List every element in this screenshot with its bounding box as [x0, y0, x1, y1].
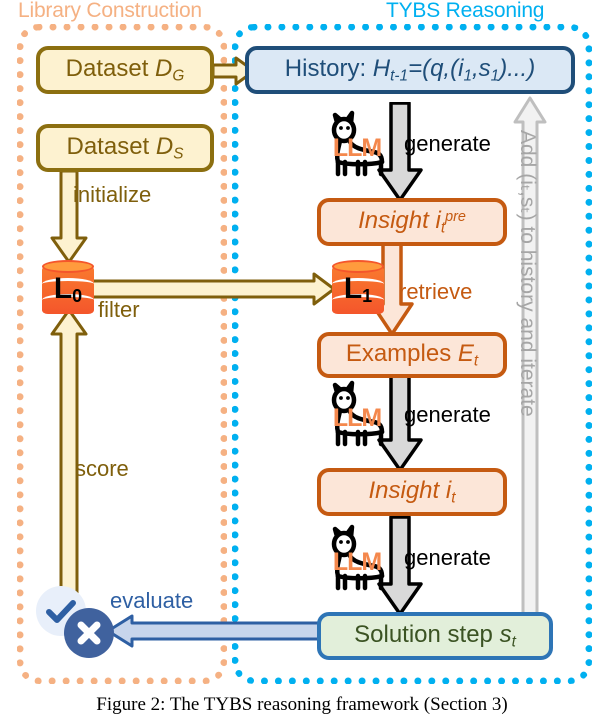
cross-mark-icon: [64, 608, 114, 658]
edge-label-score: score: [75, 456, 129, 482]
llm-llama-icon-3: LLM: [318, 524, 396, 594]
node-history-expr: =(q,(i: [408, 55, 463, 82]
node-insight: Insight it: [317, 468, 507, 516]
node-history-sub3: 1: [491, 67, 500, 84]
node-solution-sub: t: [512, 633, 516, 650]
node-solution-step: Solution step st: [317, 612, 553, 660]
node-dataset-dg-var: D: [155, 55, 172, 82]
library-l0-database-icon: L0: [40, 258, 96, 320]
llm-label-2: LLM: [318, 404, 396, 433]
node-dataset-ds: Dataset DS: [36, 124, 214, 172]
figure-canvas: Library Construction TYBS Reasoning: [0, 0, 604, 716]
node-dataset-dg-sub: G: [172, 67, 184, 84]
edge-label-retrieve: retrieve: [399, 279, 472, 305]
panel-title-tybs-reasoning: TYBS Reasoning: [386, 0, 544, 23]
node-insight-sub: t: [451, 489, 455, 506]
node-examples-var: E: [458, 340, 474, 367]
node-history-var: H: [373, 55, 390, 82]
node-history-expr2: ,s: [472, 55, 491, 82]
node-dataset-ds-label: Dataset: [67, 133, 156, 160]
edge-label-generate-1: generate: [404, 131, 491, 157]
panel-title-library-construction: Library Construction: [18, 0, 202, 23]
node-dataset-dg: Dataset DG: [36, 46, 214, 94]
node-examples-label: Examples: [346, 340, 458, 367]
node-dataset-dg-label: Dataset: [66, 55, 155, 82]
llm-label-3: LLM: [318, 548, 396, 577]
library-l1-name: L: [344, 272, 362, 305]
node-insight-pre: Insight itpre: [317, 198, 507, 246]
library-l1-index: 1: [362, 286, 372, 306]
node-examples-sub: t: [474, 352, 478, 369]
node-solution-var: s: [500, 621, 512, 648]
node-dataset-ds-sub: S: [173, 145, 183, 162]
node-history: History: Ht-1=(q,(i1,s1)...): [245, 46, 575, 94]
edge-label-generate-2: generate: [404, 402, 491, 428]
node-insight-label: Insight: [368, 477, 445, 504]
llm-llama-icon-1: LLM: [318, 110, 396, 180]
node-history-label: History:: [285, 55, 373, 82]
node-dataset-ds-var: D: [156, 133, 173, 160]
llm-label-1: LLM: [318, 134, 396, 163]
node-history-expr3: )...): [499, 55, 535, 82]
library-l0-name: L: [54, 272, 72, 305]
node-insight-pre-sup: pre: [445, 209, 466, 225]
arrow-evaluate: [106, 614, 322, 648]
edge-label-initialize: initialize: [73, 182, 151, 208]
llm-llama-icon-2: LLM: [318, 380, 396, 450]
figure-caption: Figure 2: The TYBS reasoning framework (…: [0, 694, 604, 716]
node-insight-pre-label: Insight: [358, 207, 435, 234]
edge-label-add-to-history: Add (iₜ,sₜ) to history and iterate: [515, 130, 540, 550]
edge-label-evaluate: evaluate: [110, 588, 193, 614]
node-examples: Examples Et: [317, 332, 507, 378]
node-history-sub: t-1: [390, 67, 408, 84]
edge-label-filter: filter: [98, 297, 140, 323]
library-l0-index: 0: [72, 286, 82, 306]
edge-label-generate-3: generate: [404, 545, 491, 571]
group-box-library-construction: [17, 24, 227, 684]
node-solution-label: Solution step: [354, 621, 499, 648]
node-history-sub2: 1: [463, 67, 472, 84]
library-l1-database-icon: L1: [330, 258, 386, 320]
